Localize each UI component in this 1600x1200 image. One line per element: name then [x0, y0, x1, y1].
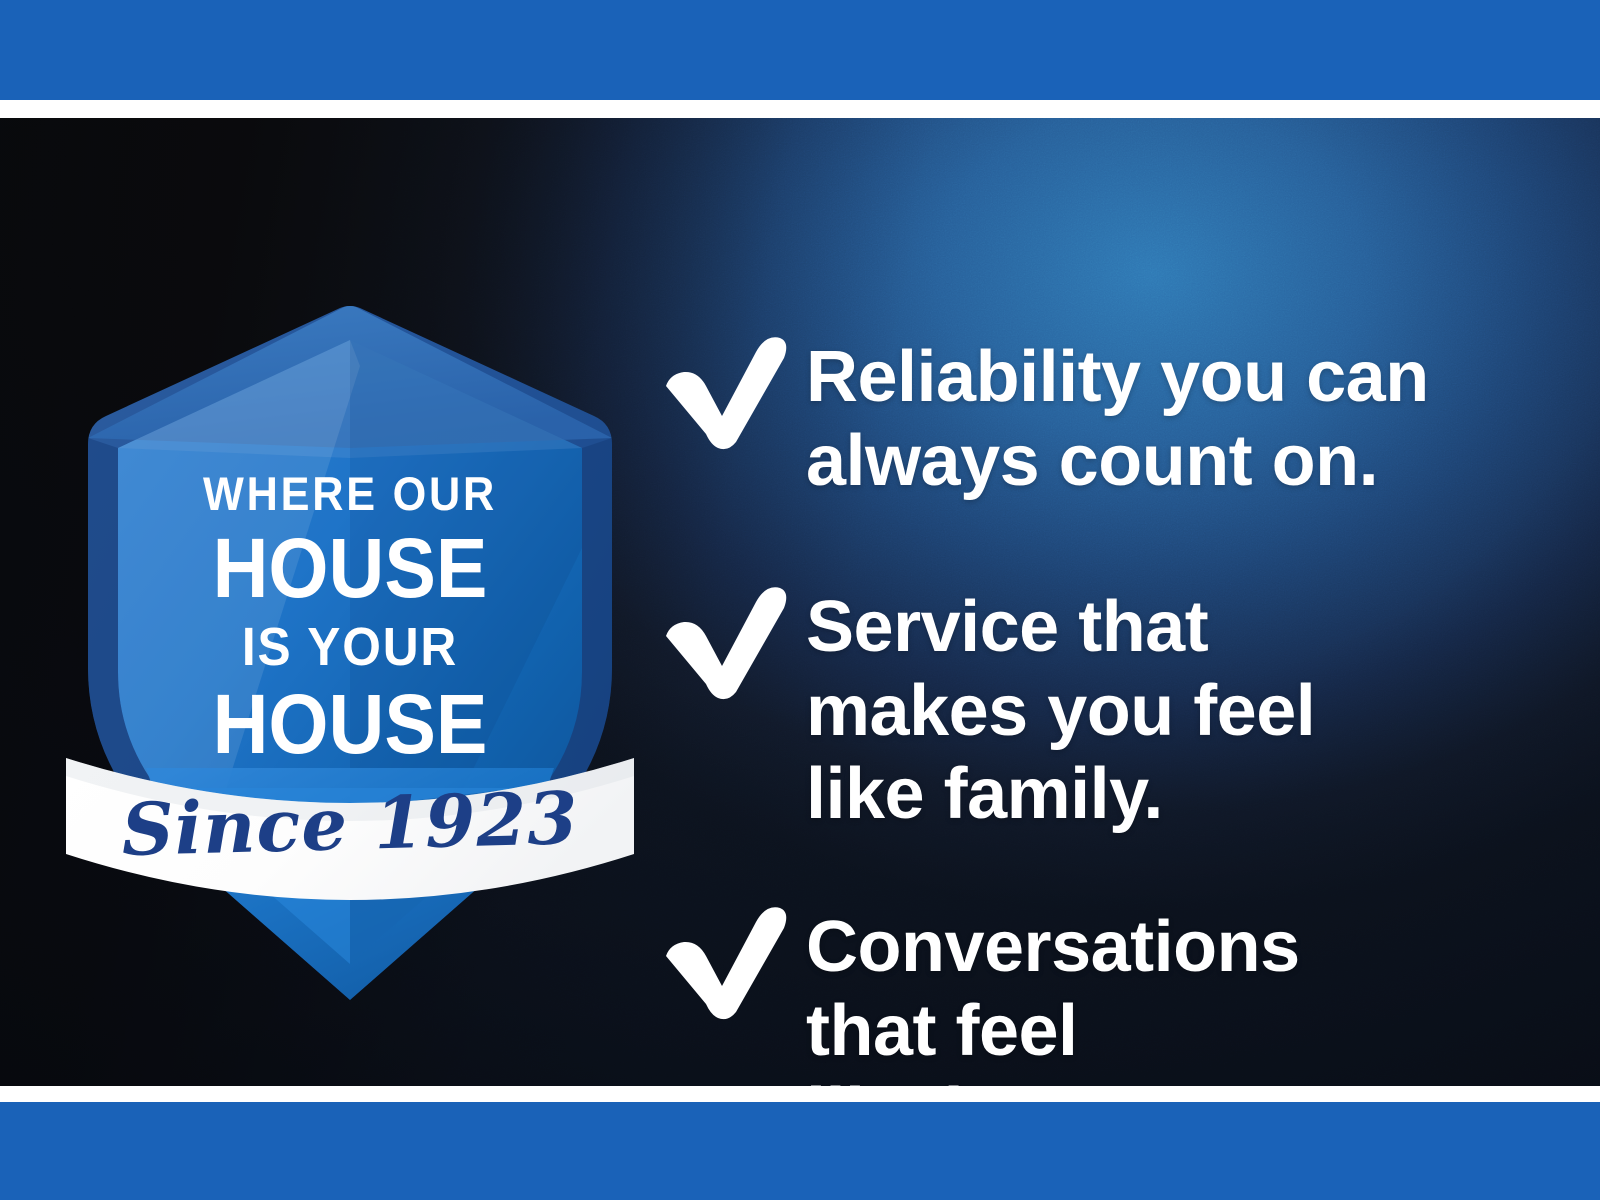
shield-line-1: Where our: [83, 470, 617, 517]
top-accent-bar: [0, 0, 1600, 100]
list-item-line: that feel: [806, 990, 1560, 1074]
top-divider: [0, 100, 1600, 118]
list-item-text: Reliability you can always count on.: [806, 330, 1560, 503]
list-item-text: Service that makes you feel like family.: [806, 580, 1560, 837]
list-item: Reliability you can always count on.: [660, 330, 1560, 503]
shield-since-year: Since 1923: [59, 773, 641, 873]
shield-badge: Where our House Is your House Since 1923: [60, 248, 640, 948]
list-item-line: Reliability you can: [806, 336, 1560, 420]
check-icon: [660, 580, 792, 700]
list-item-line: Service that: [806, 586, 1560, 670]
list-item-line: Conversations: [806, 906, 1560, 990]
shield-line-3: Is your: [83, 620, 617, 674]
list-item-line: like home.: [806, 1073, 1560, 1086]
shield-line-4: House: [83, 682, 617, 766]
main-art-panel: Where our House Is your House Since 1923…: [0, 118, 1600, 1086]
list-item-text: Conversations that feel like home.: [806, 900, 1560, 1086]
list-item-line: makes you feel: [806, 670, 1560, 754]
benefits-list: Reliability you can always count on. Ser…: [660, 236, 1560, 1086]
promo-graphic: Where our House Is your House Since 1923…: [0, 0, 1600, 1200]
check-icon: [660, 900, 792, 1020]
shield-line-2: House: [83, 526, 617, 610]
check-icon: [660, 330, 792, 450]
list-item: Service that makes you feel like family.: [660, 580, 1560, 837]
list-item-line: like family.: [806, 753, 1560, 837]
list-item: Conversations that feel like home.: [660, 900, 1560, 1086]
list-item-line: always count on.: [806, 420, 1560, 504]
bottom-accent-bar: [0, 1102, 1600, 1200]
